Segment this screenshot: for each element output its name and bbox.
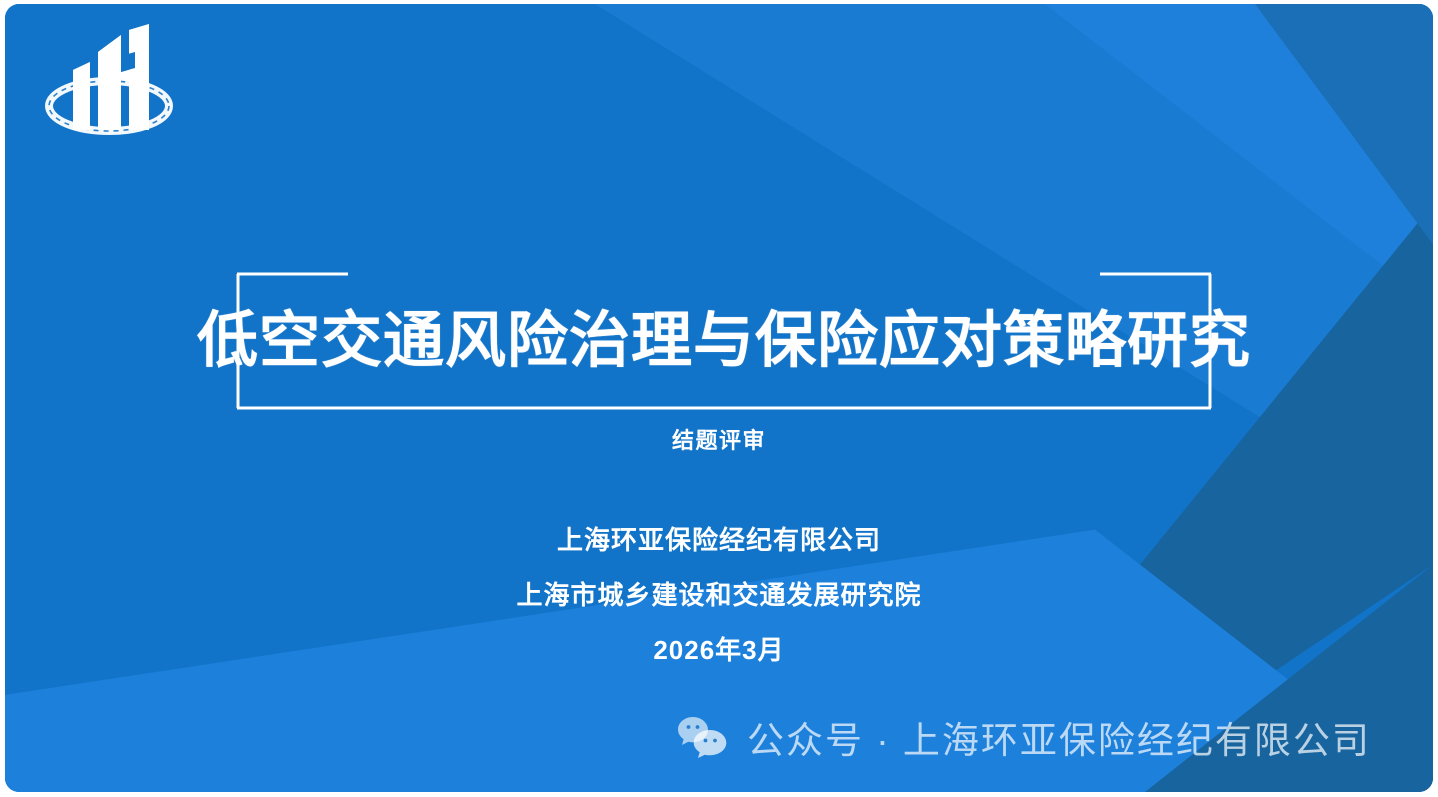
slide-date: 2026年3月	[5, 636, 1433, 666]
background-triangle-dark-top	[1255, 4, 1433, 244]
logo-tower-middle-front	[98, 35, 121, 130]
watermark: 公众号 · 上海环亚保险经纪有限公司	[677, 710, 1371, 764]
logo-tower-right-front	[129, 24, 149, 130]
page-title: 低空交通风险治理与保险应对策略研究	[236, 270, 1212, 410]
title-frame: 低空交通风险治理与保险应对策略研究	[236, 270, 1212, 410]
buildings-road-logo	[43, 22, 175, 140]
logo-tower-left-front	[73, 62, 90, 130]
wechat-bubble-back-dot-1	[687, 725, 691, 729]
slide-canvas: 低空交通风险治理与保险应对策略研究 结题评审 上海环亚保险经纪有限公司 上海市城…	[5, 4, 1433, 792]
wechat-bubble-front	[694, 730, 727, 758]
organization-block: 上海环亚保险经纪有限公司 上海市城乡建设和交通发展研究院 2026年3月	[5, 526, 1433, 666]
wechat-bubble-back-dot-2	[696, 725, 700, 729]
organization-line-2: 上海市城乡建设和交通发展研究院	[5, 581, 1433, 611]
wechat-icon	[677, 715, 729, 759]
wechat-bubble-front-dot-2	[713, 739, 717, 743]
organization-line-1: 上海环亚保险经纪有限公司	[5, 526, 1433, 556]
wechat-bubble-front-dot-1	[704, 739, 708, 743]
slide-root: 低空交通风险治理与保险应对策略研究 结题评审 上海环亚保险经纪有限公司 上海市城…	[0, 0, 1438, 797]
background-wedge-upper-right-2	[1045, 4, 1433, 304]
slide-subtitle: 结题评审	[5, 428, 1433, 454]
watermark-text: 公众号 · 上海环亚保险经纪有限公司	[747, 710, 1371, 764]
